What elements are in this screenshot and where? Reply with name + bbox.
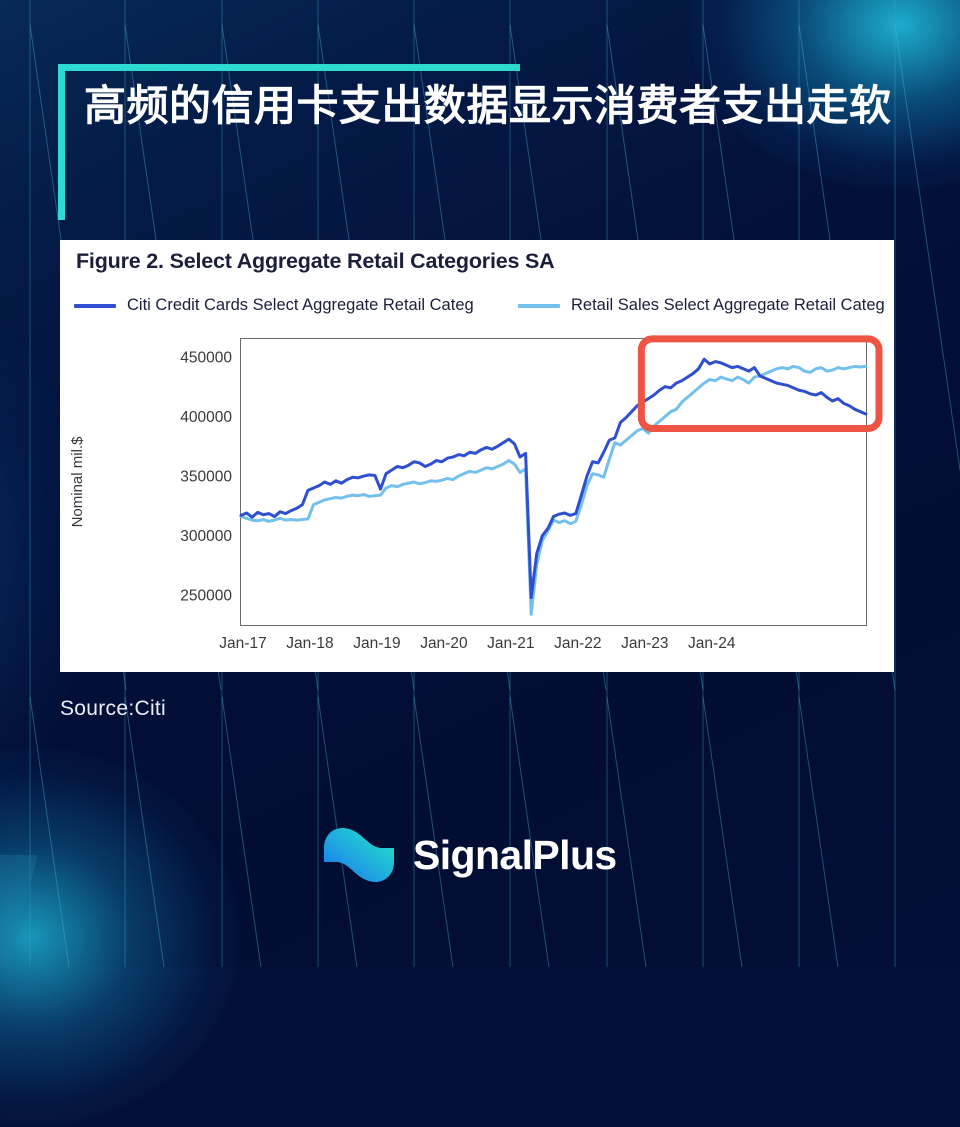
x-tick-label: Jan-18 xyxy=(286,635,333,652)
x-tick-label: Jan-19 xyxy=(353,635,400,652)
x-axis-tick-labels: Jan-17Jan-18Jan-19Jan-20Jan-21Jan-22Jan-… xyxy=(219,635,736,652)
headline-block: 高频的信用卡支出数据显示消费者支出走软 xyxy=(58,64,898,134)
legend-label-citi: Citi Credit Cards Select Aggregate Retai… xyxy=(127,296,474,315)
legend-swatch-citi-icon xyxy=(74,304,116,308)
accent-bar-top xyxy=(58,64,520,71)
legend-item-citi-credit-cards: Citi Credit Cards Select Aggregate Retai… xyxy=(74,296,474,315)
page-title: 高频的信用卡支出数据显示消费者支出走软 xyxy=(84,64,914,134)
signalplus-wave-icon xyxy=(322,822,396,888)
legend-item-retail-sales: Retail Sales Select Aggregate Retail Cat… xyxy=(518,296,885,315)
legend-swatch-retail-icon xyxy=(518,304,560,308)
plot-area: Nominal mil.$ 25000030000035000040000045… xyxy=(60,326,894,672)
source-note: Source:Citi xyxy=(60,697,166,721)
chart-title: Figure 2. Select Aggregate Retail Catego… xyxy=(76,249,554,274)
y-axis-tick-labels: 250000300000350000400000450000 xyxy=(180,349,232,604)
y-tick-label: 350000 xyxy=(180,469,232,486)
line-chart-svg: Nominal mil.$ 25000030000035000040000045… xyxy=(60,326,894,672)
x-tick-label: Jan-17 xyxy=(219,635,266,652)
x-tick-label: Jan-22 xyxy=(554,635,601,652)
legend-label-retail: Retail Sales Select Aggregate Retail Cat… xyxy=(571,296,885,315)
brand-logo: SignalPlus xyxy=(322,822,617,888)
accent-bar-left xyxy=(58,64,65,220)
y-tick-label: 300000 xyxy=(180,528,232,545)
y-axis-title: Nominal mil.$ xyxy=(69,436,86,528)
chart-legend: Citi Credit Cards Select Aggregate Retai… xyxy=(74,296,884,318)
x-tick-label: Jan-23 xyxy=(621,635,668,652)
chart-card: Figure 2. Select Aggregate Retail Catego… xyxy=(60,240,894,672)
x-tick-label: Jan-21 xyxy=(487,635,534,652)
y-tick-label: 250000 xyxy=(180,588,232,605)
y-tick-label: 450000 xyxy=(180,349,232,366)
x-tick-label: Jan-20 xyxy=(420,635,468,652)
y-tick-label: 400000 xyxy=(180,409,232,426)
x-tick-label: Jan-24 xyxy=(688,635,736,652)
brand-wordmark: SignalPlus xyxy=(413,832,617,879)
